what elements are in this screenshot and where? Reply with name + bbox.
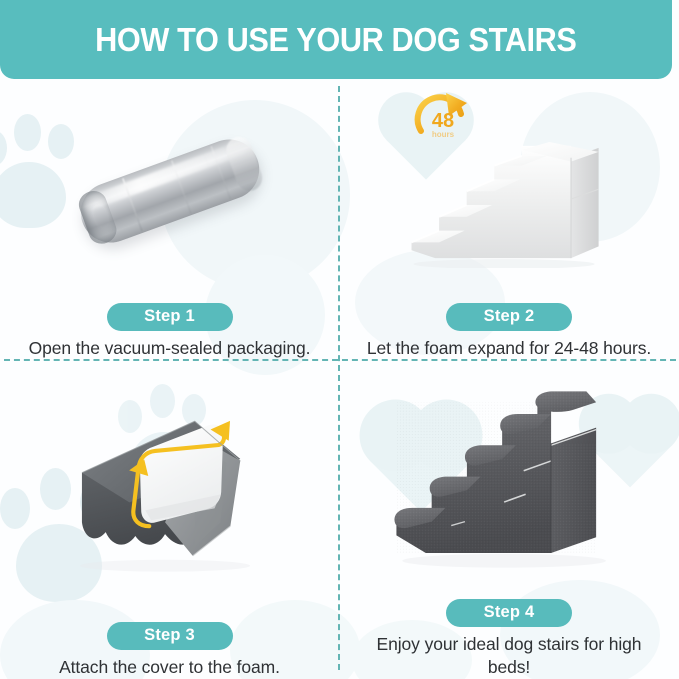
infographic-page: HOW TO USE YOUR DOG STAIRS Step 1 Open t… bbox=[0, 0, 679, 679]
step-1-caption: Open the vacuum-sealed packaging. bbox=[20, 337, 320, 360]
48-hours-number: 48 bbox=[432, 110, 454, 132]
step-2-caption: Let the foam expand for 24-48 hours. bbox=[359, 337, 659, 360]
step-1-badge: Step 1 bbox=[107, 303, 233, 331]
step-3-caption: Attach the cover to the foam. bbox=[20, 656, 320, 679]
header-banner: HOW TO USE YOUR DOG STAIRS bbox=[0, 0, 672, 79]
horizontal-divider bbox=[4, 359, 676, 361]
step-panel-2: 48 hours bbox=[339, 79, 679, 360]
gray-cover-with-arrow bbox=[46, 400, 294, 593]
vertical-divider bbox=[338, 86, 340, 670]
page-title: HOW TO USE YOUR DOG STAIRS bbox=[95, 21, 576, 59]
vacuum-sealed-roll bbox=[72, 131, 267, 251]
finished-gray-dog-stairs bbox=[385, 389, 633, 580]
step-2-illustration: 48 hours bbox=[339, 79, 679, 303]
step-4-caption: Enjoy your ideal dog stairs for high bed… bbox=[359, 633, 659, 679]
step-panel-4: Step 4 Enjoy your ideal dog stairs for h… bbox=[339, 360, 679, 679]
step-panel-1: Step 1 Open the vacuum-sealed packaging. bbox=[0, 79, 339, 360]
step-panel-3: Step 3 Attach the cover to the foam. bbox=[0, 360, 339, 679]
step-4-badge: Step 4 bbox=[446, 599, 572, 627]
step-3-badge: Step 3 bbox=[107, 622, 233, 650]
step-1-illustration bbox=[0, 79, 339, 303]
step-2-badge: Step 2 bbox=[446, 303, 572, 331]
48-hours-unit: hours bbox=[432, 130, 455, 139]
white-foam-stairs bbox=[405, 140, 613, 268]
step-4-illustration bbox=[339, 360, 679, 599]
step-3-illustration bbox=[0, 360, 339, 622]
